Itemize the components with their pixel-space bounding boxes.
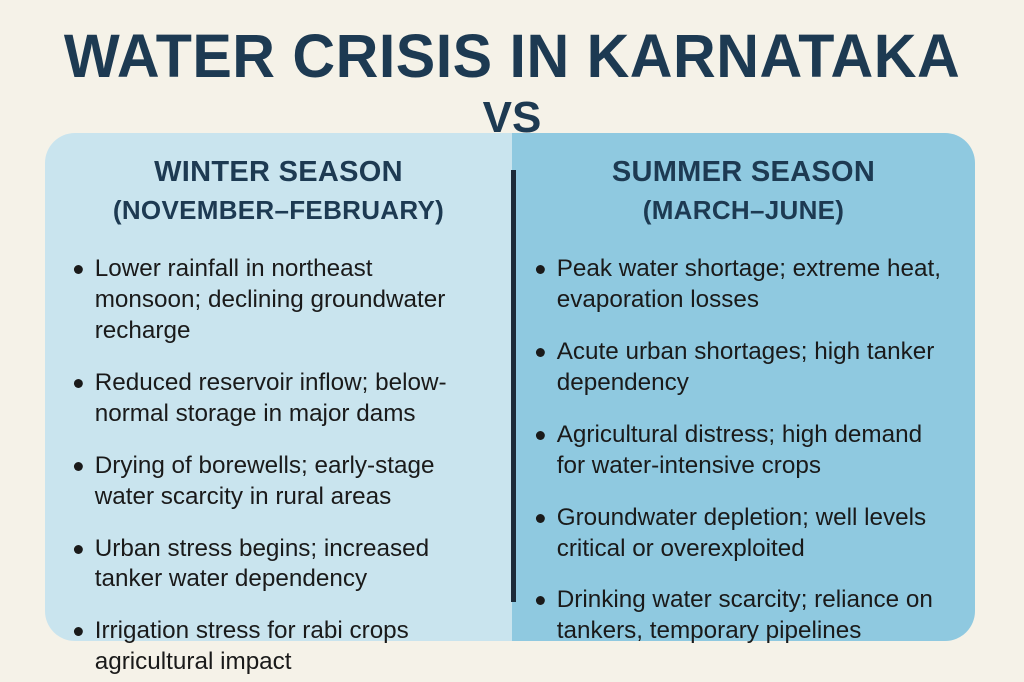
panel-summer-season: SUMMER SEASON (MARCH–JUNE) Peak water sh…: [512, 133, 975, 641]
infographic-root: WATER CRISIS IN KARNATAKA VS WINTER SEAS…: [0, 0, 1024, 682]
list-item: Reduced reservoir inflow; below-normal s…: [68, 368, 484, 430]
list-item: Urban stress begins; increased tanker wa…: [68, 534, 484, 596]
page-title: WATER CRISIS IN KARNATAKA: [15, 24, 1008, 88]
winter-bullet-list: Lower rainfall in northeast monsoon; dec…: [68, 254, 488, 677]
panel-winter-season: WINTER SEASON (NOVEMBER–FEBRUARY) Lower …: [45, 133, 512, 641]
summer-heading-block: SUMMER SEASON (MARCH–JUNE): [512, 133, 975, 224]
list-item: Drying of borewells; early-stage water s…: [68, 451, 484, 513]
list-item: Groundwater depletion; well levels criti…: [530, 503, 956, 565]
comparison-panels: WINTER SEASON (NOVEMBER–FEBRUARY) Lower …: [45, 133, 975, 641]
list-item: Peak water shortage; extreme heat, evapo…: [530, 254, 956, 316]
summer-bullet-list: Peak water shortage; extreme heat, evapo…: [530, 254, 960, 647]
list-item: Irrigation stress for rabi crops agricul…: [68, 616, 484, 678]
winter-heading: WINTER SEASON: [45, 133, 512, 189]
winter-subheading: (NOVEMBER–FEBRUARY): [45, 189, 512, 225]
vs-label: VS: [0, 96, 1024, 140]
panel-divider: [511, 170, 516, 602]
winter-heading-block: WINTER SEASON (NOVEMBER–FEBRUARY): [45, 133, 512, 224]
list-item: Drinking water scarcity; reliance on tan…: [530, 585, 956, 647]
summer-heading: SUMMER SEASON: [512, 133, 975, 189]
list-item: Acute urban shortages; high tanker depen…: [530, 337, 956, 399]
list-item: Lower rainfall in northeast monsoon; dec…: [68, 254, 484, 347]
summer-subheading: (MARCH–JUNE): [512, 189, 975, 225]
list-item: Agricultural distress; high demand for w…: [530, 420, 956, 482]
